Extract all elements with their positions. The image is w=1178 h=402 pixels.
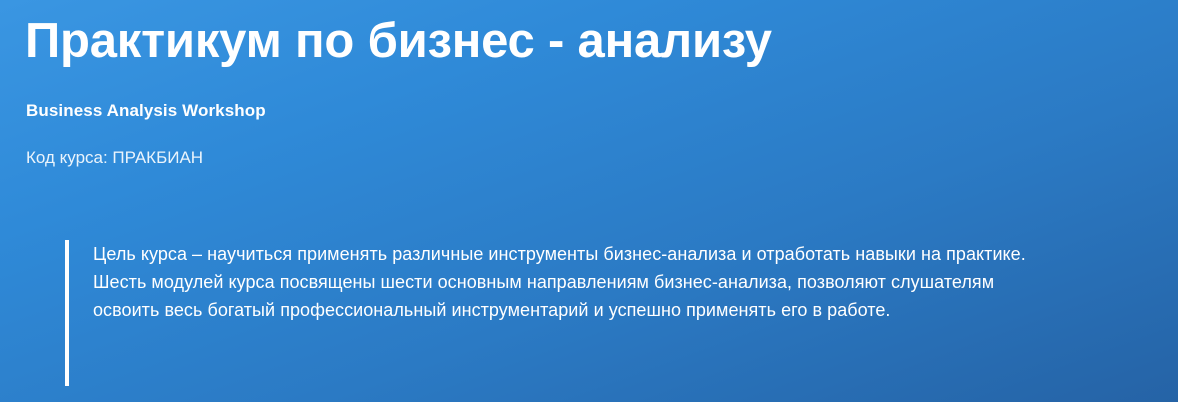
hero-content: Практикум по бизнес - анализу Business A… [25, 0, 1025, 402]
course-description-text: Цель курса – научиться применять различн… [93, 240, 1030, 324]
course-hero-banner: Практикум по бизнес - анализу Business A… [0, 0, 1178, 402]
course-subtitle: Business Analysis Workshop [26, 100, 266, 122]
course-code: Код курса: ПРАКБИАН [26, 147, 203, 169]
course-description-quote: Цель курса – научиться применять различн… [65, 240, 1030, 386]
page-title: Практикум по бизнес - анализу [25, 14, 772, 69]
